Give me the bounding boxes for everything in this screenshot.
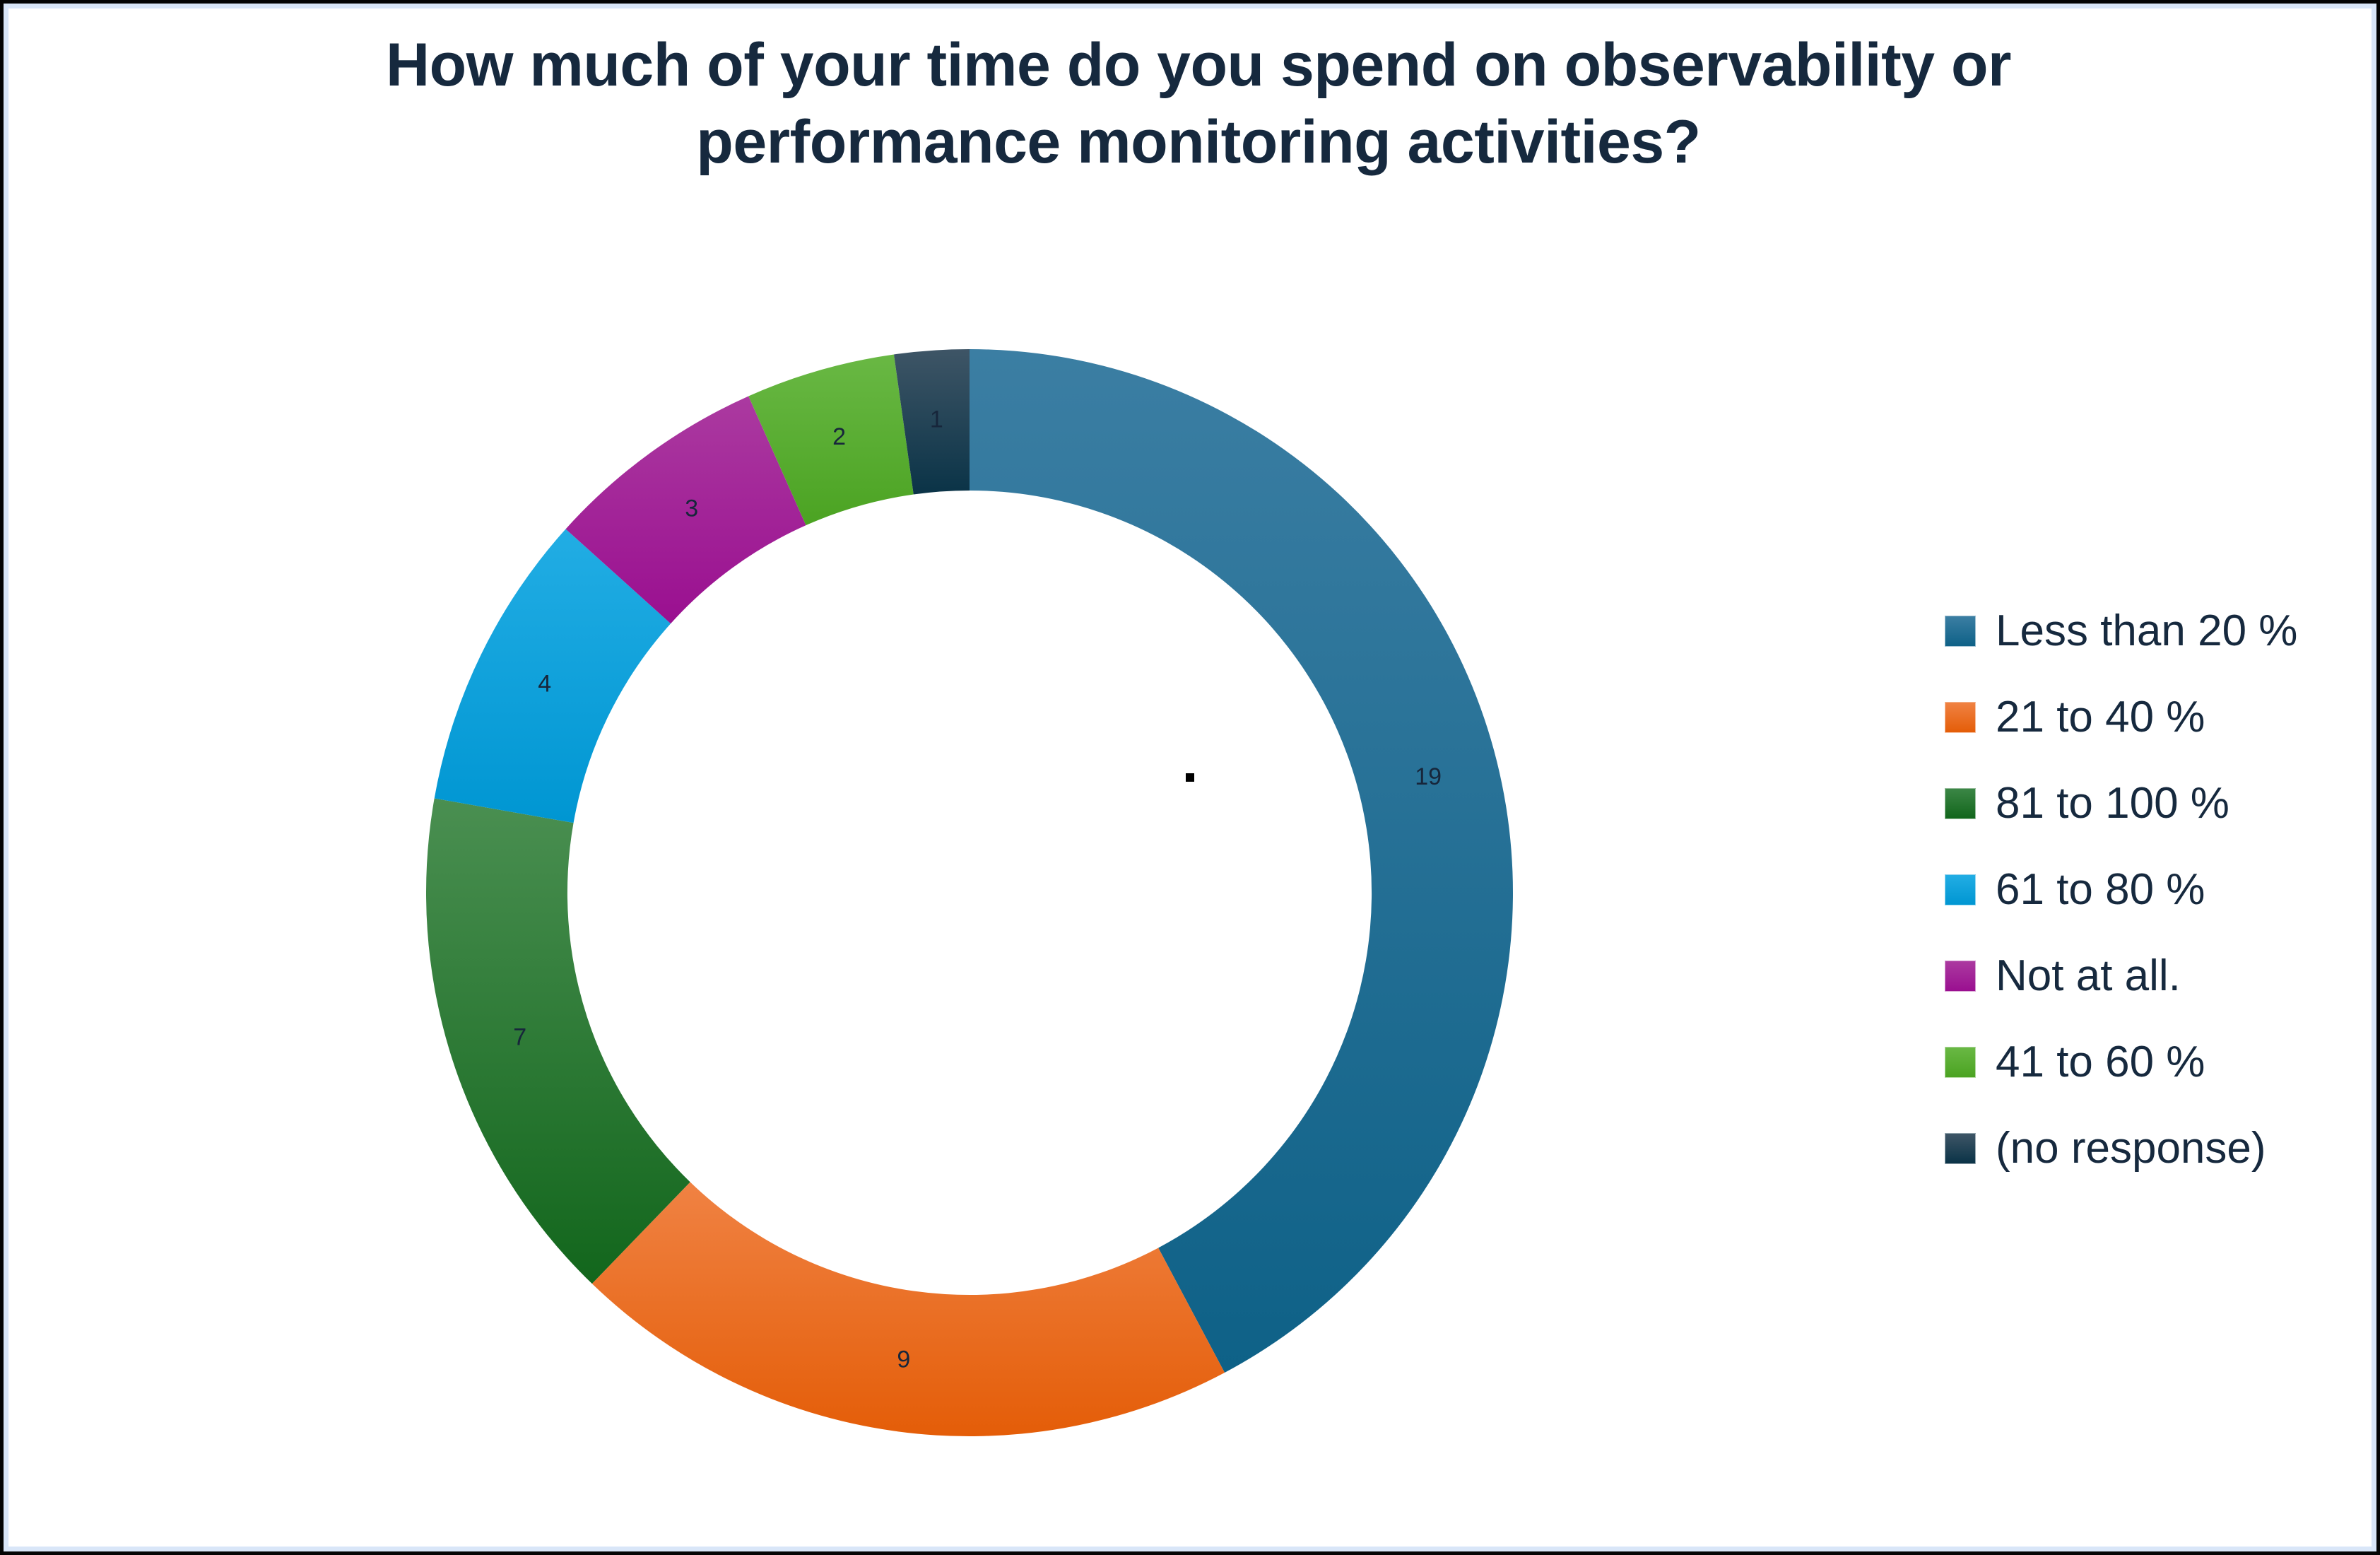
donut-slices [426,349,1513,1436]
donut-slice-label: 9 [897,1346,910,1373]
legend-item[interactable]: Less than 20 % [1945,588,2369,674]
legend-item[interactable]: 61 to 80 % [1945,847,2369,933]
donut-slice[interactable] [592,1182,1225,1436]
legend-item[interactable]: 81 to 100 % [1945,761,2369,847]
donut-slice-label: 1 [930,406,943,433]
legend-item-label: Less than 20 % [1996,609,2297,653]
donut-chart-svg: 19974321 [426,349,1513,1436]
donut-slice-label: 2 [832,423,846,450]
legend-swatch-icon [1945,616,1976,647]
legend-item[interactable]: Not at all. [1945,933,2369,1019]
donut-slice-label: 19 [1415,763,1442,790]
legend-item-label: 21 to 40 % [1996,696,2205,739]
legend-item[interactable]: (no response) [1945,1105,2369,1192]
legend-swatch-icon [1945,961,1976,992]
donut-slice-label: 7 [513,1024,526,1051]
chart-frame: How much of your time do you spend on ob… [0,0,2380,1555]
donut-slice-label: 4 [538,671,551,698]
donut-chart: 19974321 [426,349,1513,1436]
chart-title-line-1: How much of your time do you spend on ob… [122,27,2275,104]
donut-slice[interactable] [426,798,690,1284]
legend-item-label: 81 to 100 % [1996,782,2229,826]
chart-title: How much of your time do you spend on ob… [122,27,2275,181]
legend-item[interactable]: 41 to 60 % [1945,1019,2369,1105]
legend-swatch-icon [1945,788,1976,819]
chart-legend: Less than 20 %21 to 40 %81 to 100 %61 to… [1945,588,2369,1192]
legend-swatch-icon [1945,702,1976,733]
donut-slice-label: 3 [685,495,698,522]
donut-slice[interactable] [970,349,1513,1373]
legend-item-label: Not at all. [1996,954,2181,998]
legend-item-label: 41 to 60 % [1996,1040,2205,1084]
legend-swatch-icon [1945,1047,1976,1078]
chart-title-line-2: performance monitoring activities? [122,104,2275,181]
legend-item-label: (no response) [1996,1127,2266,1170]
legend-swatch-icon [1945,1133,1976,1164]
legend-item[interactable]: 21 to 40 % [1945,674,2369,761]
legend-item-label: 61 to 80 % [1996,868,2205,912]
legend-swatch-icon [1945,874,1976,905]
